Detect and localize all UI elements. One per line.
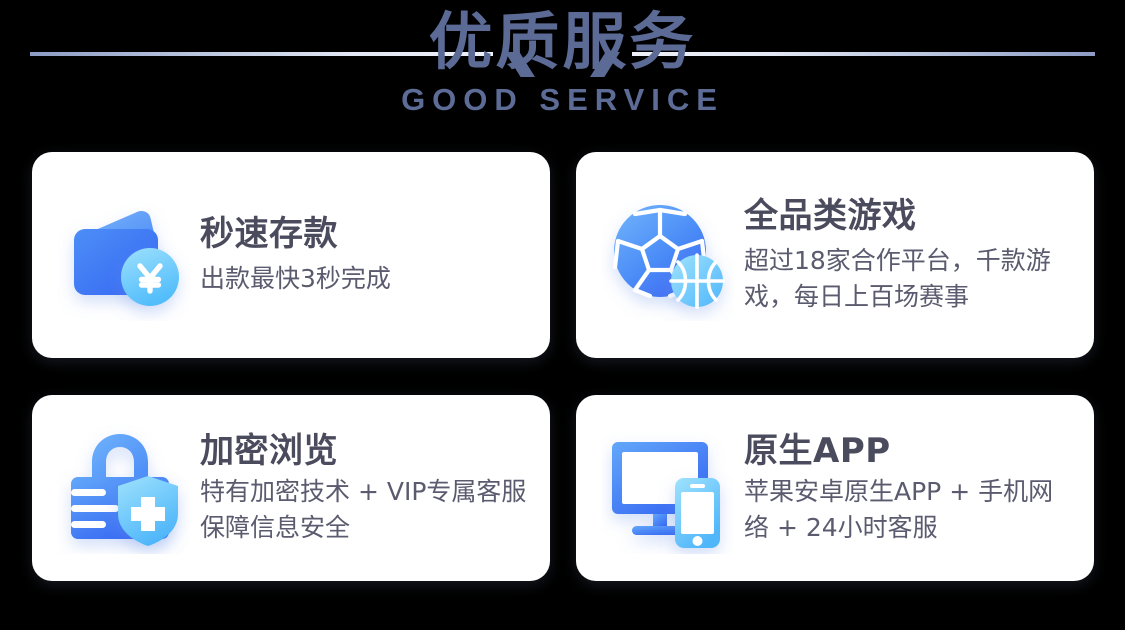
feature-title: 加密浏览: [200, 430, 528, 472]
feature-card-games[interactable]: 全品类游戏 超过18家合作平台，千款游戏，每日上百场赛事: [576, 152, 1094, 358]
banner-header: 优质服务 GOOD SERVICE: [0, 0, 1125, 145]
feature-card-grid: 秒速存款 出款最快3秒完成: [32, 152, 1094, 581]
soccer-basketball-icon: [602, 189, 734, 321]
monitor-phone-icon: [602, 422, 734, 554]
feature-description: 苹果安卓原生APP + 手机网络 + 24小时客服: [744, 474, 1072, 546]
page-title: 优质服务: [0, 0, 1125, 84]
good-service-banner: 优质服务 GOOD SERVICE: [0, 0, 1125, 630]
feature-title: 原生APP: [744, 430, 1072, 472]
header-title-block: 优质服务 GOOD SERVICE: [0, 0, 1125, 120]
feature-title: 秒速存款: [200, 213, 528, 255]
feature-card-native-app[interactable]: 原生APP 苹果安卓原生APP + 手机网络 + 24小时客服: [576, 395, 1094, 581]
feature-description: 超过18家合作平台，千款游戏，每日上百场赛事: [744, 243, 1072, 315]
feature-title: 全品类游戏: [744, 195, 1072, 237]
feature-card-text: 加密浏览 特有加密技术 + VIP专属客服保障信息安全: [200, 430, 528, 546]
feature-card-deposit[interactable]: 秒速存款 出款最快3秒完成: [32, 152, 550, 358]
feature-description: 特有加密技术 + VIP专属客服保障信息安全: [200, 474, 528, 546]
lock-shield-icon: [58, 422, 190, 554]
feature-card-text: 原生APP 苹果安卓原生APP + 手机网络 + 24小时客服: [744, 430, 1072, 546]
feature-card-text: 全品类游戏 超过18家合作平台，千款游戏，每日上百场赛事: [744, 195, 1072, 315]
feature-card-text: 秒速存款 出款最快3秒完成: [200, 213, 528, 297]
feature-card-encryption[interactable]: 加密浏览 特有加密技术 + VIP专属客服保障信息安全: [32, 395, 550, 581]
wallet-yen-icon: [58, 189, 190, 321]
page-subtitle: GOOD SERVICE: [0, 80, 1125, 120]
feature-description: 出款最快3秒完成: [200, 261, 528, 297]
